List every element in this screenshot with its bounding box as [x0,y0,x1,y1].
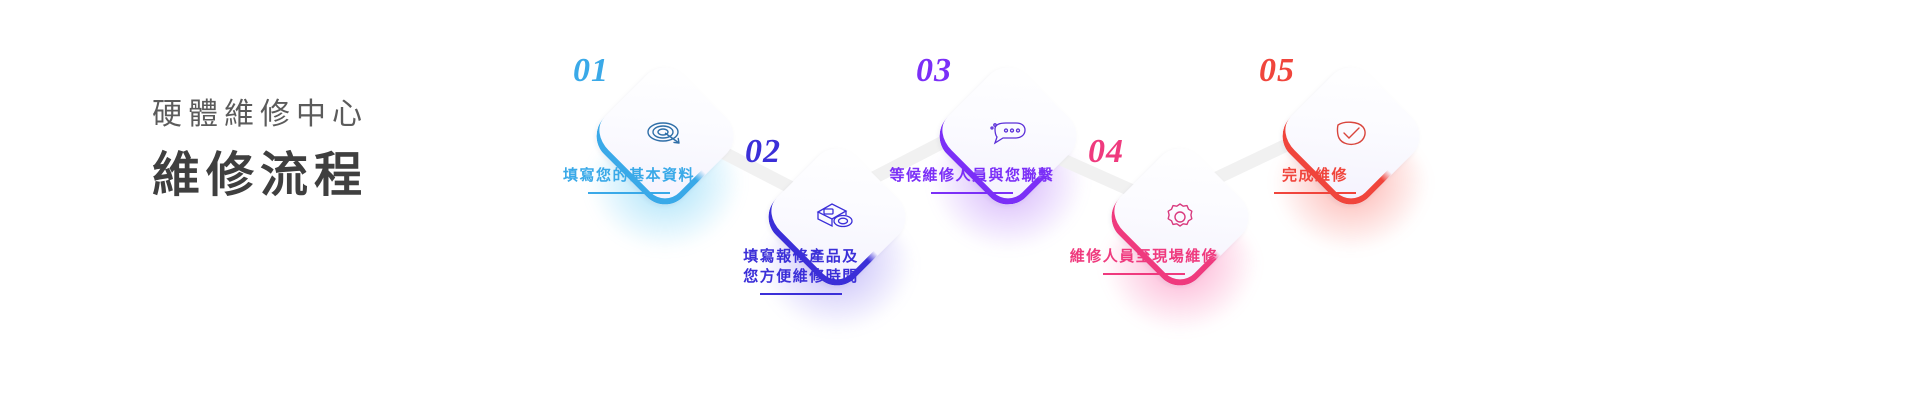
step-number-01: 01 [573,52,609,90]
step-caption-05: 完成維修 [1169,166,1461,194]
step-caption-03: 等候維修人員與您聯繫 [826,166,1118,194]
caption-line: 維修人員至現場維修 [998,247,1290,267]
caption-underline [1274,192,1356,194]
caption-line: 填寫您的基本資料 [483,166,775,186]
caption-underline [588,192,670,194]
caption-line: 等候維修人員與您聯繫 [826,166,1118,186]
step-number-04: 04 [1088,133,1124,171]
repair-process-banner: 硬體維修中心 維修流程 01 [0,0,1920,400]
step-number-03: 03 [916,52,952,90]
caption-line: 填寫報修產品及 [655,247,947,267]
step-caption-02: 填寫報修產品及 您方便維修時間 [655,247,947,295]
step-number-02: 02 [745,133,781,171]
caption-underline [1103,273,1185,275]
process-steps: 01 填寫您的基本資料 [0,0,1920,400]
step-number-05: 05 [1259,52,1295,90]
step-caption-01: 填寫您的基本資料 [483,166,775,194]
caption-underline [931,192,1013,194]
caption-line: 您方便維修時間 [655,267,947,287]
caption-line: 完成維修 [1169,166,1461,186]
step-caption-04: 維修人員至現場維修 [998,247,1290,275]
caption-underline [760,293,842,295]
